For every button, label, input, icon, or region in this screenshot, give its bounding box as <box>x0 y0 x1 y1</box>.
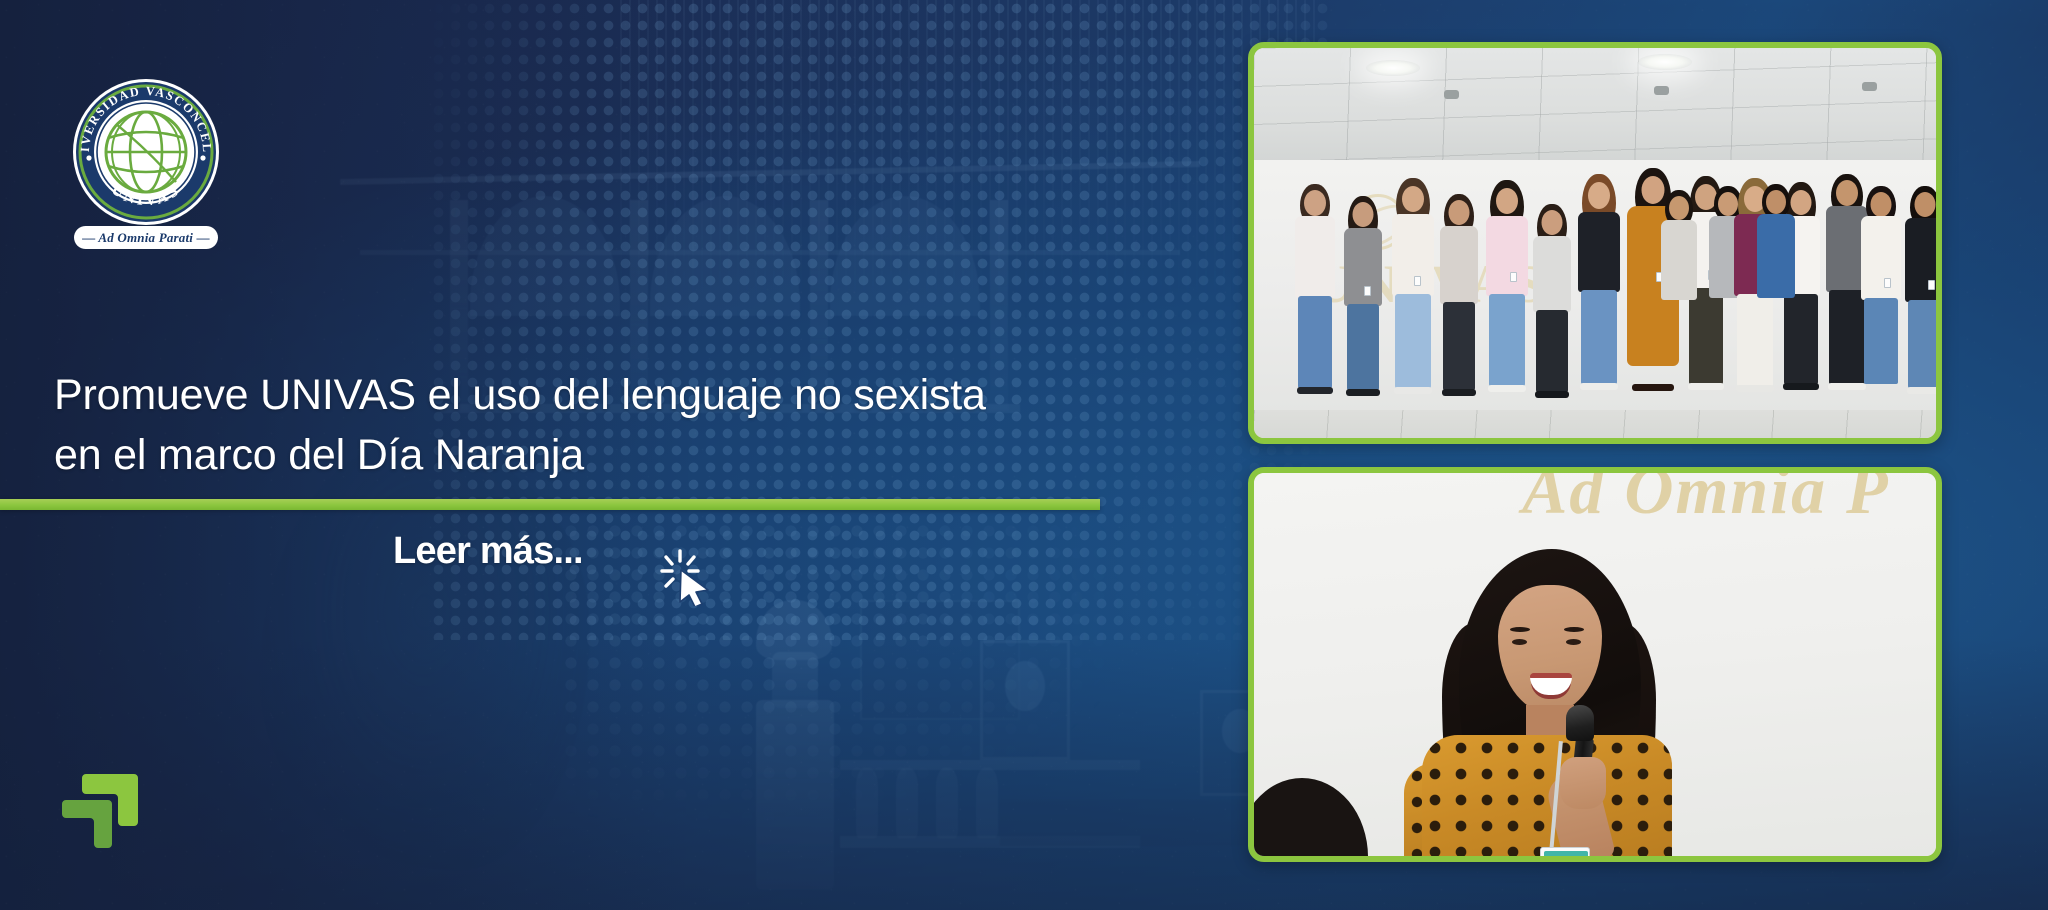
eyebrow <box>1564 627 1584 632</box>
person <box>1482 180 1532 400</box>
torso <box>1578 212 1620 292</box>
shoes <box>1346 389 1380 396</box>
legs <box>1395 294 1431 388</box>
head <box>1353 202 1374 227</box>
eye <box>1566 639 1581 645</box>
legs <box>1298 296 1332 388</box>
torso <box>1295 216 1335 298</box>
legs <box>1581 290 1617 384</box>
person <box>1388 178 1438 400</box>
shoes <box>1394 387 1432 394</box>
page-title: Promueve UNIVAS el uso del lenguaje no s… <box>54 365 1174 485</box>
id-badge <box>1884 278 1891 288</box>
id-badge <box>1414 276 1421 286</box>
ceiling-grid <box>1254 48 1936 166</box>
id-badge <box>1540 847 1590 856</box>
torso <box>1440 226 1478 304</box>
torso <box>1344 228 1382 306</box>
hand <box>1560 757 1606 809</box>
legs <box>1536 310 1568 392</box>
person <box>1902 186 1936 400</box>
headline-line-2: en el marco del Día Naranja <box>54 425 1174 485</box>
photo-group-scene: UNIVAS <box>1254 48 1936 438</box>
corner-bracket-icon <box>60 770 142 852</box>
person <box>1340 190 1386 400</box>
torso <box>1661 220 1697 300</box>
green-divider <box>0 499 1100 510</box>
shoes <box>1488 385 1526 392</box>
hero-banner: UNIVERSIDAD VASCONCELOS UNIVAS — Ad Omni… <box>0 0 2048 910</box>
eyebrow <box>1510 627 1530 632</box>
floor <box>1254 410 1936 438</box>
torso <box>1861 216 1901 300</box>
shoes <box>1442 389 1476 396</box>
id-badge <box>1364 286 1371 296</box>
backdrop-motto-text: Ad Omnia P <box>1522 473 1890 530</box>
head <box>1915 192 1936 217</box>
ceiling-light <box>1638 54 1692 70</box>
legs <box>1864 298 1898 384</box>
head <box>1871 192 1892 217</box>
eye <box>1512 639 1527 645</box>
headline-line-1: Promueve UNIVAS el uso del lenguaje no s… <box>54 365 1174 425</box>
background-halftone-pattern-secondary <box>560 520 1120 820</box>
shoes <box>1580 383 1618 390</box>
id-badge <box>1510 272 1517 282</box>
torso <box>1533 236 1571 312</box>
floor-tile-lines <box>1254 410 1936 438</box>
ceiling-light <box>1366 60 1420 76</box>
head <box>1304 190 1326 216</box>
head <box>1402 186 1424 212</box>
leer-mas-button[interactable]: Leer más... <box>393 530 583 573</box>
ceiling-vent <box>1444 90 1459 99</box>
click-cursor-icon <box>660 548 718 606</box>
shoes <box>1736 385 1774 392</box>
shoes <box>1783 383 1819 390</box>
head <box>1766 190 1786 214</box>
head <box>1669 196 1689 220</box>
legs <box>1443 302 1475 390</box>
head <box>1836 180 1858 206</box>
legs <box>1908 300 1936 388</box>
univas-logo[interactable]: UNIVERSIDAD VASCONCELOS UNIVAS — Ad Omni… <box>72 78 220 253</box>
torso <box>1392 214 1434 296</box>
shoes <box>1535 391 1569 398</box>
microphone-head <box>1566 705 1594 741</box>
ceiling <box>1254 48 1936 166</box>
photo-group[interactable]: UNIVAS <box>1248 42 1942 444</box>
torso <box>1486 216 1528 296</box>
id-badge <box>1928 280 1935 290</box>
ceiling-vent <box>1862 82 1877 91</box>
person <box>1436 194 1482 400</box>
photo-speaker[interactable]: Ad Omnia P <box>1248 467 1942 862</box>
person <box>1658 190 1700 378</box>
head <box>1449 200 1470 225</box>
person <box>1574 174 1624 400</box>
shoes <box>1907 387 1936 394</box>
head <box>1542 210 1563 235</box>
dress-polka-dots <box>1422 735 1672 856</box>
logo-motto: — Ad Omnia Parati — <box>74 226 218 249</box>
person <box>1858 186 1904 394</box>
shoes <box>1297 387 1333 394</box>
legs <box>1489 294 1525 386</box>
shoes <box>1688 383 1724 390</box>
dress <box>1422 735 1672 856</box>
person <box>1292 184 1338 400</box>
legs <box>1347 304 1379 390</box>
torso <box>1757 214 1795 298</box>
photo-speaker-scene: Ad Omnia P <box>1254 473 1936 856</box>
ceiling-vent <box>1654 86 1669 95</box>
head <box>1496 188 1518 214</box>
person <box>1530 200 1574 400</box>
person <box>1754 184 1798 380</box>
shoes <box>1632 384 1674 391</box>
univas-seal-icon: UNIVERSIDAD VASCONCELOS UNIVAS <box>72 78 220 226</box>
head <box>1588 182 1610 209</box>
